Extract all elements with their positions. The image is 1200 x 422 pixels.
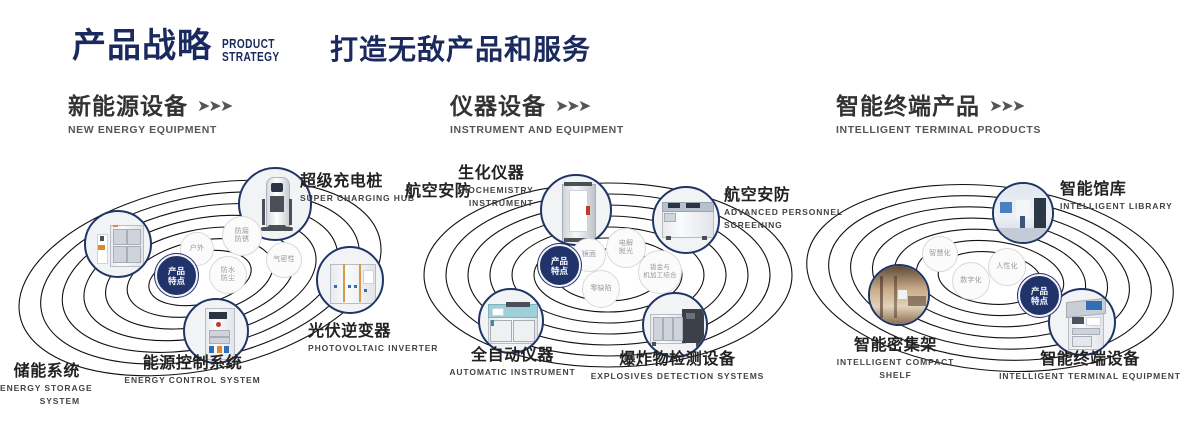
label-en-1: EXPLOSIVES DETECTION SYSTEMS: [585, 371, 770, 382]
feature-label-line1: 镜面: [582, 251, 596, 260]
automatic-instrument-illustration: [480, 290, 542, 352]
feature-label-line2: 抛光: [619, 248, 633, 257]
chevron-right-icon: ➤➤➤: [989, 93, 1023, 120]
label-en-2: SHELF: [808, 370, 983, 381]
label-en-1: SUPER CHARGING HUB: [300, 193, 415, 204]
core-bubble-product-features: 产品 特点: [1018, 274, 1061, 317]
label-automatic-instrument: 全自动仪器 AUTOMATIC INSTRUMENT: [425, 346, 600, 378]
label-cn: 智能密集架: [808, 336, 983, 355]
section-title-en: INTELLIGENT TERMINAL PRODUCTS: [836, 124, 1041, 136]
label-en-2: INSTRUMENT: [458, 198, 534, 209]
node-intelligent-compact-shelf[interactable]: [868, 264, 930, 326]
label-intelligent-terminal-equipment: 智能终端设备 INTELLIGENT TERMINAL EQUIPMENT: [995, 350, 1185, 382]
chevron-right-icon: ➤➤➤: [555, 93, 589, 120]
label-energy-control-system: 能源控制系统 ENERGY CONTROL SYSTEM: [90, 354, 295, 386]
core-label-line2: 特点: [1031, 296, 1048, 306]
feature-label-line1: 人性化: [996, 263, 1018, 272]
cluster-new-energy: 储能系统 ENERGY STORAGE SYSTEM 超级充电桩 SUPER C…: [0, 150, 420, 400]
node-automatic-instrument[interactable]: [478, 288, 544, 354]
core-label-line1: 产品: [551, 256, 568, 266]
feature-label-line2: 防尘: [221, 275, 235, 284]
feature-label-line1: 智慧化: [929, 250, 951, 259]
node-photovoltaic-inverter[interactable]: [316, 246, 384, 314]
feature-bubble-airtight: 气密性: [266, 242, 302, 278]
feature-label-line2: 防锈: [235, 236, 249, 245]
core-bubble-product-features: 产品 特点: [155, 254, 198, 297]
feature-label-line1: 钣金与: [650, 264, 670, 272]
label-cn: 智能馆库: [1060, 180, 1173, 199]
section-title-cn: 仪器设备 ➤➤➤: [450, 93, 624, 120]
page-title: 产品战略 PRODUCT STRATEGY: [72, 26, 296, 66]
section-title-cn: 新能源设备 ➤➤➤: [68, 93, 231, 120]
label-cn: 爆炸物检测设备: [585, 350, 770, 369]
label-cn: 能源控制系统: [90, 354, 295, 373]
feature-label-line1: 零缺陷: [590, 285, 612, 294]
section-title-cn: 智能终端产品 ➤➤➤: [836, 93, 1041, 120]
label-en-1: INTELLIGENT LIBRARY: [1060, 201, 1173, 212]
label-en-1: ENERGY CONTROL SYSTEM: [90, 375, 295, 386]
chevron-right-icon: ➤➤➤: [197, 93, 231, 120]
label-en-1: INTELLIGENT TERMINAL EQUIPMENT: [995, 371, 1185, 382]
core-label-line1: 产品: [1031, 286, 1048, 296]
energy-storage-system-illustration: [86, 212, 150, 276]
label-intelligent-compact-shelf: 智能密集架 INTELLIGENT COMPACT SHELF: [808, 336, 983, 381]
label-cn: 生化仪器: [458, 164, 534, 183]
feature-label-line1: 户外: [190, 245, 204, 254]
intelligent-library-illustration: [994, 184, 1052, 242]
node-intelligent-library[interactable]: [992, 182, 1054, 244]
feature-label-line1: 电解: [619, 240, 633, 249]
feature-bubble-waterproof: 防水 防尘: [209, 256, 247, 294]
label-biochemistry-instrument: 生化仪器 BIOCHEMISTRY INSTRUMENT: [458, 164, 534, 209]
explosives-detection-systems-illustration: [644, 294, 706, 356]
label-en-1: AUTOMATIC INSTRUMENT: [425, 367, 600, 378]
energy-control-system-illustration: [185, 300, 247, 362]
section-title-intelligent-terminal: 智能终端产品 ➤➤➤ INTELLIGENT TERMINAL PRODUCTS: [836, 93, 1041, 136]
feature-bubble-anti-corrosion: 防腐 防锈: [222, 216, 262, 256]
feature-label-line1: 防水: [221, 267, 235, 276]
product-strategy-infographic: 产品战略 PRODUCT STRATEGY 打造无敌产品和服务 新能源设备 ➤➤…: [0, 0, 1200, 422]
feature-label-line2: 机加工结合: [643, 272, 677, 280]
biochemistry-instrument-illustration: [542, 176, 610, 244]
section-title-en: INSTRUMENT AND EQUIPMENT: [450, 124, 624, 136]
label-energy-storage-system: 储能系统 ENERGY STORAGE SYSTEM: [0, 362, 80, 407]
page-title-en: PRODUCT STRATEGY: [222, 37, 280, 63]
section-title-new-energy: 新能源设备 ➤➤➤ NEW ENERGY EQUIPMENT: [68, 93, 231, 136]
cluster-intelligent-terminal: 智能馆库 INTELLIGENT LIBRARY 智能密集架 INTELLIGE…: [790, 150, 1200, 400]
feature-label-line1: 防腐: [235, 228, 249, 237]
feature-bubble-smart: 智慧化: [922, 236, 958, 272]
feature-bubble-humanized: 人性化: [988, 248, 1026, 286]
advanced-personnel-screening-illustration: [654, 188, 718, 252]
feature-bubble-digital: 数字化: [952, 262, 990, 300]
intelligent-compact-shelf-illustration: [870, 266, 928, 324]
label-cn: 全自动仪器: [425, 346, 600, 365]
feature-bubble-sheet-metal-machining: 钣金与 机加工结合: [638, 250, 682, 294]
label-cn: 储能系统: [0, 362, 80, 381]
label-en-1: BIOCHEMISTRY: [458, 185, 534, 196]
label-super-charging-hub: 超级充电桩 SUPER CHARGING HUB: [300, 172, 415, 204]
photovoltaic-inverter-illustration: [318, 248, 382, 312]
label-intelligent-library: 智能馆库 INTELLIGENT LIBRARY: [1060, 180, 1173, 212]
node-energy-storage-system[interactable]: [84, 210, 152, 278]
section-title-cn-text: 新能源设备: [68, 93, 188, 120]
section-title-en: NEW ENERGY EQUIPMENT: [68, 124, 231, 136]
label-en-2: SYSTEM: [0, 396, 80, 407]
page-title-cn: 产品战略: [72, 26, 212, 66]
label-explosives-detection-systems: 爆炸物检测设备 EXPLOSIVES DETECTION SYSTEMS: [585, 350, 770, 382]
core-label-line2: 特点: [551, 266, 568, 276]
node-biochemistry-instrument[interactable]: [540, 174, 612, 246]
feature-label-line1: 气密性: [273, 256, 295, 265]
label-en-1: ENERGY STORAGE: [0, 383, 80, 394]
label-cn: 智能终端设备: [995, 350, 1185, 369]
core-bubble-product-features: 产品 特点: [538, 244, 581, 287]
label-cn: 超级充电桩: [300, 172, 415, 191]
page-subtitle: 打造无敌产品和服务: [330, 32, 591, 68]
node-advanced-personnel-screening[interactable]: [652, 186, 720, 254]
core-label-line2: 特点: [168, 276, 185, 286]
label-en-1: INTELLIGENT COMPACT: [808, 357, 983, 368]
cluster-instrument: 航空安防 生化仪器 BIOCHEMISTRY INSTRUMENT 航空安防 A…: [400, 150, 820, 400]
feature-label-line1: 数字化: [960, 277, 982, 286]
node-explosives-detection-systems[interactable]: [642, 292, 708, 358]
core-label-line1: 产品: [168, 266, 185, 276]
page-title-en-line2: STRATEGY: [222, 50, 280, 63]
section-title-cn-text: 智能终端产品: [836, 93, 980, 120]
section-title-cn-text: 仪器设备: [450, 93, 546, 120]
feature-bubble-zero-defect: 零缺陷: [582, 270, 620, 308]
section-title-instrument: 仪器设备 ➤➤➤ INSTRUMENT AND EQUIPMENT: [450, 93, 624, 136]
